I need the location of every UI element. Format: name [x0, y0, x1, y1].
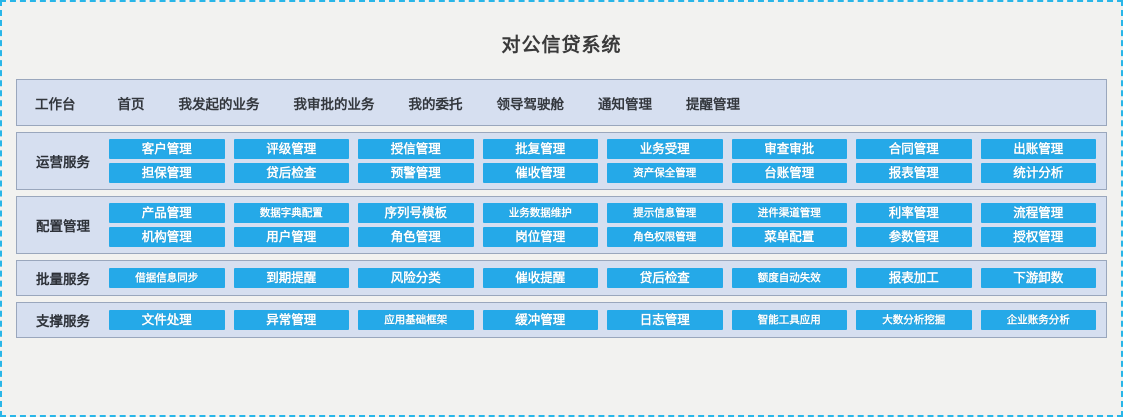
nav-item-7[interactable]: 通知管理	[598, 93, 652, 113]
service-button[interactable]: 合同管理	[856, 139, 972, 159]
service-group-panel: 批量服务借据信息同步到期提醒风险分类催收提醒贷后检查额度自动失效报表加工下游卸数	[16, 260, 1107, 296]
service-button[interactable]: 业务数据维护	[483, 203, 599, 223]
service-button[interactable]: 菜单配置	[732, 227, 848, 247]
service-button[interactable]: 日志管理	[607, 310, 723, 330]
service-button[interactable]: 缓冲管理	[483, 310, 599, 330]
nav-item-6[interactable]: 领导驾驶舱	[497, 93, 565, 113]
nav-item-5[interactable]: 我的委托	[409, 93, 463, 113]
service-button[interactable]: 风险分类	[358, 268, 474, 288]
service-button[interactable]: 贷后检查	[234, 163, 350, 183]
service-button[interactable]: 评级管理	[234, 139, 350, 159]
main-navigation: 工作台首页我发起的业务我审批的业务我的委托领导驾驶舱通知管理提醒管理	[17, 80, 1106, 125]
service-button[interactable]: 大数分析挖掘	[856, 310, 972, 330]
service-button[interactable]: 业务受理	[607, 139, 723, 159]
service-button[interactable]: 机构管理	[109, 227, 225, 247]
service-button[interactable]: 利率管理	[856, 203, 972, 223]
service-button[interactable]: 提示信息管理	[607, 203, 723, 223]
service-button[interactable]: 企业账务分析	[981, 310, 1097, 330]
app-window: 对公信贷系统 工作台首页我发起的业务我审批的业务我的委托领导驾驶舱通知管理提醒管…	[0, 0, 1123, 417]
service-button-grid: 文件处理异常管理应用基础框架缓冲管理日志管理智能工具应用大数分析挖掘企业账务分析	[109, 310, 1096, 330]
service-group-label: 支撑服务	[17, 310, 109, 330]
service-button[interactable]: 序列号模板	[358, 203, 474, 223]
service-button[interactable]: 客户管理	[109, 139, 225, 159]
nav-item-1[interactable]: 工作台	[35, 93, 76, 113]
service-button[interactable]: 出账管理	[981, 139, 1097, 159]
service-button[interactable]: 产品管理	[109, 203, 225, 223]
service-group-panel: 运营服务客户管理评级管理授信管理批复管理业务受理审查审批合同管理出账管理担保管理…	[16, 132, 1107, 190]
service-button-grid: 客户管理评级管理授信管理批复管理业务受理审查审批合同管理出账管理担保管理贷后检查…	[109, 139, 1096, 183]
service-button[interactable]: 授信管理	[358, 139, 474, 159]
service-button[interactable]: 预警管理	[358, 163, 474, 183]
nav-item-3[interactable]: 我发起的业务	[179, 93, 260, 113]
service-group-panel: 配置管理产品管理数据字典配置序列号模板业务数据维护提示信息管理进件渠道管理利率管…	[16, 196, 1107, 254]
service-group: 运营服务客户管理评级管理授信管理批复管理业务受理审查审批合同管理出账管理担保管理…	[17, 133, 1106, 189]
service-button[interactable]: 报表加工	[856, 268, 972, 288]
service-button[interactable]: 进件渠道管理	[732, 203, 848, 223]
service-button[interactable]: 参数管理	[856, 227, 972, 247]
service-button[interactable]: 催收提醒	[483, 268, 599, 288]
nav-item-4[interactable]: 我审批的业务	[294, 93, 375, 113]
service-button[interactable]: 借据信息同步	[109, 268, 225, 288]
service-button[interactable]: 统计分析	[981, 163, 1097, 183]
service-button[interactable]: 资产保全管理	[607, 163, 723, 183]
top-nav-panel: 工作台首页我发起的业务我审批的业务我的委托领导驾驶舱通知管理提醒管理	[16, 79, 1107, 126]
service-button[interactable]: 数据字典配置	[234, 203, 350, 223]
service-button[interactable]: 异常管理	[234, 310, 350, 330]
service-group: 配置管理产品管理数据字典配置序列号模板业务数据维护提示信息管理进件渠道管理利率管…	[17, 197, 1106, 253]
service-button[interactable]: 智能工具应用	[732, 310, 848, 330]
service-button[interactable]: 贷后检查	[607, 268, 723, 288]
service-button[interactable]: 授权管理	[981, 227, 1097, 247]
service-group-label: 运营服务	[17, 151, 109, 171]
service-button[interactable]: 用户管理	[234, 227, 350, 247]
service-button[interactable]: 额度自动失效	[732, 268, 848, 288]
service-button[interactable]: 报表管理	[856, 163, 972, 183]
service-group: 批量服务借据信息同步到期提醒风险分类催收提醒贷后检查额度自动失效报表加工下游卸数	[17, 261, 1106, 295]
nav-item-2[interactable]: 首页	[118, 93, 145, 113]
service-group-label: 配置管理	[17, 215, 109, 235]
service-button-grid: 产品管理数据字典配置序列号模板业务数据维护提示信息管理进件渠道管理利率管理流程管…	[109, 203, 1096, 247]
service-button[interactable]: 批复管理	[483, 139, 599, 159]
service-button[interactable]: 台账管理	[732, 163, 848, 183]
service-button[interactable]: 流程管理	[981, 203, 1097, 223]
service-button[interactable]: 审查审批	[732, 139, 848, 159]
page-title: 对公信贷系统	[2, 2, 1121, 79]
service-group-label: 批量服务	[17, 268, 109, 288]
service-button[interactable]: 下游卸数	[981, 268, 1097, 288]
service-group-panel: 支撑服务文件处理异常管理应用基础框架缓冲管理日志管理智能工具应用大数分析挖掘企业…	[16, 302, 1107, 338]
service-button[interactable]: 到期提醒	[234, 268, 350, 288]
service-button-grid: 借据信息同步到期提醒风险分类催收提醒贷后检查额度自动失效报表加工下游卸数	[109, 268, 1096, 288]
service-button[interactable]: 担保管理	[109, 163, 225, 183]
service-group: 支撑服务文件处理异常管理应用基础框架缓冲管理日志管理智能工具应用大数分析挖掘企业…	[17, 303, 1106, 337]
service-button[interactable]: 岗位管理	[483, 227, 599, 247]
service-button[interactable]: 应用基础框架	[358, 310, 474, 330]
service-groups-container: 运营服务客户管理评级管理授信管理批复管理业务受理审查审批合同管理出账管理担保管理…	[2, 132, 1121, 338]
service-button[interactable]: 催收管理	[483, 163, 599, 183]
service-button[interactable]: 文件处理	[109, 310, 225, 330]
nav-item-8[interactable]: 提醒管理	[686, 93, 740, 113]
service-button[interactable]: 角色管理	[358, 227, 474, 247]
service-button[interactable]: 角色权限管理	[607, 227, 723, 247]
